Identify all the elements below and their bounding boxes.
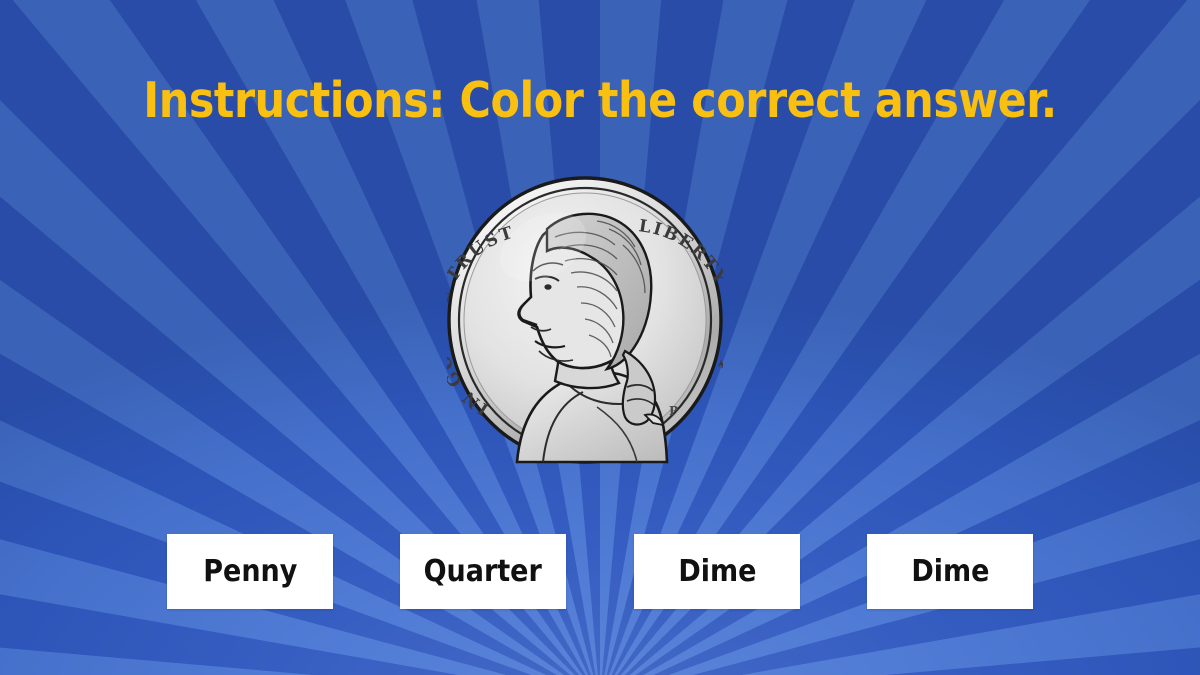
answer-option-label: Quarter (424, 557, 542, 587)
answer-option-label: Dime (678, 557, 756, 587)
answer-option-penny[interactable]: Penny (167, 534, 333, 609)
svg-text:P: P (669, 404, 678, 418)
nickel-coin-image: IN GOD WE TRUST LIBERTY • 2004 P FS (447, 175, 723, 464)
answer-option-quarter[interactable]: Quarter (400, 534, 566, 609)
answer-options-row: Penny Quarter Dime Dime (0, 534, 1200, 609)
answer-option-label: Penny (203, 557, 297, 587)
answer-option-dime-1[interactable]: Dime (634, 534, 800, 609)
answer-option-label: Dime (911, 557, 989, 587)
worksheet-slide: Instructions: Color the correct answer. (0, 0, 1200, 675)
answer-option-dime-2[interactable]: Dime (867, 534, 1033, 609)
page-title: Instructions: Color the correct answer. (75, 70, 1125, 132)
